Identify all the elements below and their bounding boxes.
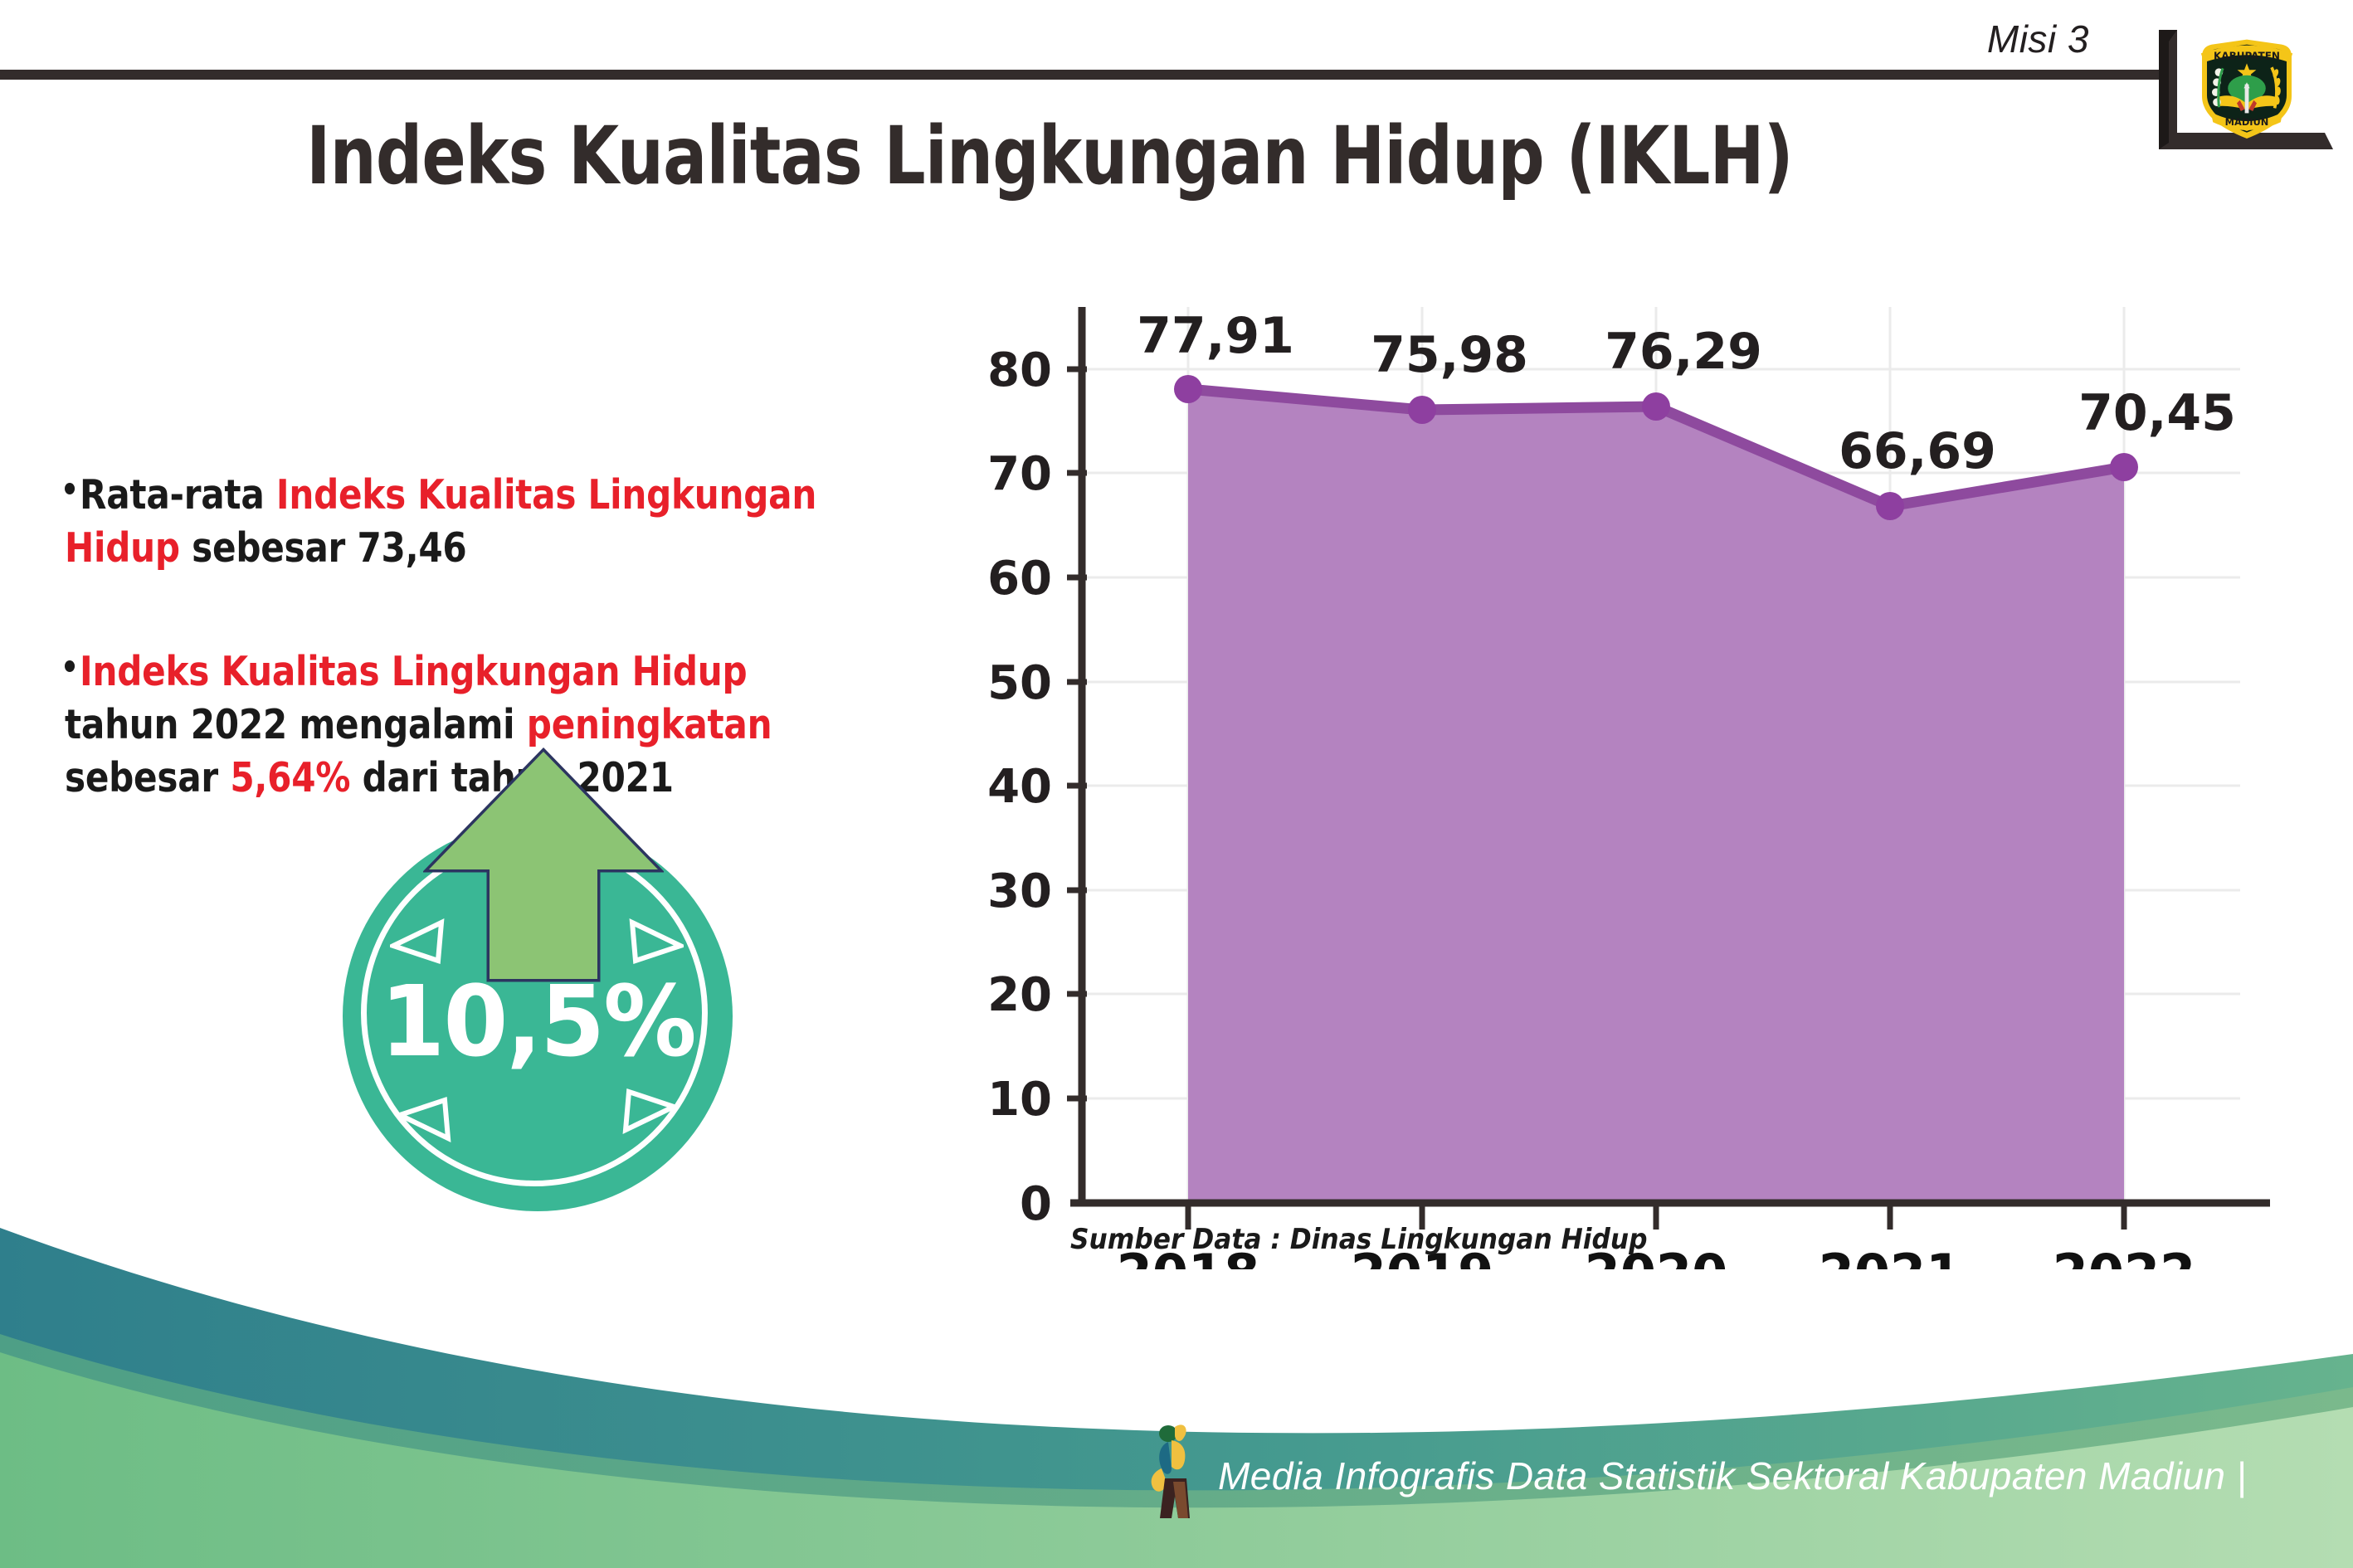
y-tick-0: 0 — [1020, 1177, 1052, 1231]
increase-badge: 10,5% — [324, 747, 755, 1211]
y-tick-10: 10 — [987, 1073, 1052, 1127]
bullet-2-seg-1: Indeks Kualitas Lingkungan Hidup — [80, 648, 747, 695]
footer-caption: Media Infografis Data Statistik Sektoral… — [1218, 1454, 2247, 1498]
x-tick-2022: 2022 — [2053, 1243, 2196, 1269]
madiun-figure-logo — [1143, 1420, 1210, 1528]
bullet-1-seg-1: Rata-rata — [80, 471, 276, 519]
badge-value: 10,5% — [353, 964, 723, 1079]
page-title: Indeks Kualitas Lingkungan Hidup (IKLH) — [189, 110, 1911, 202]
header-rule — [0, 70, 2174, 80]
bullet-1-seg-3: sebesar 73,46 — [180, 524, 467, 572]
data-label-2021: 66,69 — [1839, 422, 1996, 480]
chart-area-fill — [1188, 389, 2124, 1203]
y-tick-30: 30 — [987, 864, 1052, 918]
iklh-area-chart: 0 10 20 30 40 50 60 70 80 2018 2019 2020… — [979, 274, 2273, 1269]
data-label-2018: 77,91 — [1137, 307, 1294, 365]
badge-tick-top-right-icon — [622, 918, 684, 967]
badge-tick-bottom-left-icon — [397, 1093, 458, 1143]
badge-tick-bottom-right-icon — [616, 1085, 677, 1135]
bullet-item-1: Rata-rata Indeks Kualitas Lingkungan Hid… — [65, 469, 835, 574]
y-tick-40: 40 — [987, 760, 1052, 814]
svg-text:KABUPATEN: KABUPATEN — [2214, 51, 2280, 62]
data-label-2022: 70,45 — [2078, 384, 2236, 442]
bullet-dot — [65, 660, 75, 672]
x-tick-2021: 2021 — [1819, 1243, 1962, 1269]
kabupaten-madiun-emblem: KABUPATEN MADIUN — [2201, 40, 2292, 139]
chart-source-note: Sumber Data : Dinas Lingkungan Hidup — [1070, 1223, 1648, 1256]
chart-canvas: 0 10 20 30 40 50 60 70 80 2018 2019 2020… — [979, 274, 2273, 1269]
bullet-2-seg-4: sebesar — [65, 754, 230, 801]
chart-y-tick-labels: 0 10 20 30 40 50 60 70 80 — [987, 343, 1052, 1231]
bullet-2-seg-2: tahun 2022 mengalami — [65, 701, 527, 748]
y-tick-20: 20 — [987, 968, 1052, 1022]
emblem-bracket-frame: KABUPATEN MADIUN — [2159, 30, 2343, 149]
misi-label: Misi 3 — [1987, 17, 2089, 61]
y-tick-50: 50 — [987, 656, 1052, 710]
badge-tick-top-left-icon — [390, 918, 451, 967]
bullet-2-seg-3: peningkatan — [527, 701, 772, 748]
bullet-dot — [65, 483, 75, 494]
y-tick-80: 80 — [987, 343, 1052, 397]
y-tick-70: 70 — [987, 447, 1052, 501]
data-label-2019: 75,98 — [1371, 326, 1528, 384]
data-label-2020: 76,29 — [1605, 323, 1762, 381]
y-tick-60: 60 — [987, 552, 1052, 606]
